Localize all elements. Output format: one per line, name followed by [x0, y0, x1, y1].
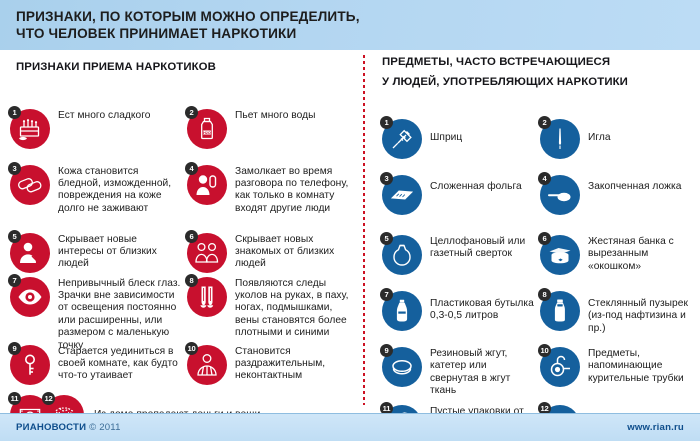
right-column-title-line2: У ЛЮДЕЙ, УПОТРЕБЛЯЮЩИХ НАРКОТИКИ: [382, 76, 700, 90]
item-label: Замолкает во время разговора по телефону…: [235, 165, 359, 216]
right-column-title-line1: ПРЕДМЕТЫ, ЧАСТО ВСТРЕЧАЮЩИЕСЯ: [382, 56, 700, 70]
item-number: 8: [538, 288, 551, 301]
item-number: 2: [185, 106, 198, 119]
icon-badge: 5: [382, 235, 422, 275]
page-header: ПРИЗНАКИ, ПО КОТОРЫМ МОЖНО ОПРЕДЕЛИТЬ, Ч…: [0, 0, 700, 50]
list-item[interactable]: 3 Сложенная фольга: [382, 175, 532, 215]
brand-name: РИАНОВОСТИ: [16, 422, 86, 433]
item-number: 11: [8, 392, 21, 405]
item-number: 6: [185, 230, 198, 243]
list-item[interactable]: 6 Скрывает новых знакомых от близких люд…: [187, 233, 359, 273]
icon-badge: 6: [187, 233, 227, 273]
item-label: Пьет много воды: [235, 109, 316, 122]
right-items-grid: 1 Шприц: [372, 95, 700, 415]
icon-badge: 10: [187, 345, 227, 385]
list-item[interactable]: 9 Старается уединиться в своей комнате, …: [10, 345, 182, 385]
left-items-grid: 1 Ест много сладкого: [0, 81, 360, 401]
item-label: Предметы, напоминающие курительные трубк…: [588, 347, 698, 385]
icon-badge: 3: [10, 165, 50, 205]
infographic-page: ПРИЗНАКИ, ПО КОТОРЫМ МОЖНО ОПРЕДЕЛИТЬ, Ч…: [0, 0, 700, 441]
item-label: Появляются следы уколов на руках, в паху…: [235, 277, 359, 340]
item-number: 7: [380, 288, 393, 301]
item-number: 7: [8, 274, 21, 287]
icon-badge: 1: [10, 109, 50, 149]
svg-text:H2O: H2O: [203, 130, 211, 134]
icon-badge: 9: [10, 345, 50, 385]
list-item[interactable]: 10 Становится раздражительным, неконтакт…: [187, 345, 359, 385]
list-item[interactable]: 10 Предметы, напоминающие курительные тр…: [540, 347, 698, 387]
list-item[interactable]: 5 Скрывает новые интересы от близких люд…: [10, 233, 182, 273]
item-number: 6: [538, 232, 551, 245]
item-label: Пластиковая бутылка 0,3-0,5 литров: [430, 291, 537, 323]
item-number: 3: [380, 172, 393, 185]
item-number: 9: [8, 342, 21, 355]
icon-badge: 2: [540, 119, 580, 159]
list-item[interactable]: 7 Непривычный блеск глаз. Зрачки вне зав…: [10, 277, 182, 352]
item-label: Стеклянный пузырек (из-под нафтизина и п…: [588, 291, 698, 335]
item-number: 10: [185, 342, 198, 355]
item-label: Игла: [588, 119, 611, 144]
item-label: Шприц: [430, 119, 462, 144]
item-label: Скрывает новых знакомых от близких людей: [235, 233, 359, 271]
list-item[interactable]: 9 Резиновый жгут, катетер или свернутая …: [382, 347, 537, 398]
item-label: Кожа становится бледной, изможденной, по…: [58, 165, 182, 216]
icon-badge: 1: [382, 119, 422, 159]
item-number: 5: [380, 232, 393, 245]
list-item[interactable]: 3 Кожа становится бледной, изможденной, …: [10, 165, 182, 216]
icon-badge: H2O 2: [187, 109, 227, 149]
item-number: 12: [42, 392, 55, 405]
icon-badge: 4: [540, 175, 580, 215]
column-divider: [363, 55, 365, 405]
item-label: Закопченная ложка: [588, 175, 681, 193]
item-number: 4: [538, 172, 551, 185]
item-number: 1: [380, 116, 393, 129]
icon-badge: 10: [540, 347, 580, 387]
list-item[interactable]: 2 Игла: [540, 119, 690, 159]
item-number: 1: [8, 106, 21, 119]
page-title-line2: ЧТО ЧЕЛОВЕК ПРИНИМАЕТ НАРКОТИКИ: [16, 26, 700, 43]
icon-badge: 6: [540, 235, 580, 275]
icon-badge: 4: [187, 165, 227, 205]
list-item[interactable]: 6 Жестяная банка с вырезанным «окошком»: [540, 235, 690, 275]
item-label: Жестяная банка с вырезанным «окошком»: [588, 235, 690, 273]
content-area: ПРИЗНАКИ ПРИЕМА НАРКОТИКОВ: [0, 50, 700, 413]
icon-badge: 7: [382, 291, 422, 331]
item-label: Становится раздражительным, неконтактным: [235, 345, 359, 383]
list-item[interactable]: 5 Целлофановый или газетный сверток: [382, 235, 532, 275]
right-column: ПРЕДМЕТЫ, ЧАСТО ВСТРЕЧАЮЩИЕСЯ У ЛЮДЕЙ, У…: [372, 50, 700, 415]
item-label: Непривычный блеск глаз. Зрачки вне завис…: [58, 277, 182, 352]
list-item[interactable]: 1 Шприц: [382, 119, 532, 159]
list-item[interactable]: 7 Пластиковая бутылка 0,3-0,5 литров: [382, 291, 537, 331]
item-number: 2: [538, 116, 551, 129]
left-column: ПРИЗНАКИ ПРИЕМА НАРКОТИКОВ: [0, 50, 360, 401]
list-item[interactable]: 1 Ест много сладкого: [10, 109, 180, 149]
list-item[interactable]: 4 Закопченная ложка: [540, 175, 690, 215]
item-label: Скрывает новые интересы от близких людей: [58, 233, 182, 271]
list-item[interactable]: H2O 2 Пьет много воды: [187, 109, 357, 149]
item-number: 10: [538, 344, 551, 357]
item-number: 5: [8, 230, 21, 243]
icon-badge: 3: [382, 175, 422, 215]
item-label: Сложенная фольга: [430, 175, 522, 193]
brand-logo[interactable]: РИАНОВОСТИ © 2011: [16, 422, 121, 433]
item-label: Резиновый жгут, катетер или свернутая в …: [430, 347, 537, 398]
page-title-line1: ПРИЗНАКИ, ПО КОТОРЫМ МОЖНО ОПРЕДЕЛИТЬ,: [16, 9, 700, 26]
page-footer: РИАНОВОСТИ © 2011 www.rian.ru: [0, 413, 700, 441]
item-label: Целлофановый или газетный сверток: [430, 235, 532, 261]
item-number: 8: [185, 274, 198, 287]
icon-badge: 5: [10, 233, 50, 273]
item-number: 9: [380, 344, 393, 357]
copyright-text: © 2011: [89, 422, 121, 433]
item-label: Старается уединиться в своей комнате, ка…: [58, 345, 182, 383]
list-item[interactable]: 4 Замолкает во время разговора по телефо…: [187, 165, 359, 216]
item-number: 3: [8, 162, 21, 175]
icon-badge: 8: [187, 277, 227, 317]
list-item[interactable]: 8 Появляются следы уколов на руках, в па…: [187, 277, 359, 340]
left-column-title: ПРИЗНАКИ ПРИЕМА НАРКОТИКОВ: [16, 61, 360, 75]
icon-badge: 8: [540, 291, 580, 331]
item-label: Ест много сладкого: [58, 109, 151, 122]
icon-badge: 7: [10, 277, 50, 317]
icon-badge: 9: [382, 347, 422, 387]
list-item[interactable]: 8 Стеклянный пузырек (из-под нафтизина и…: [540, 291, 698, 335]
website-link[interactable]: www.rian.ru: [627, 422, 684, 433]
item-number: 4: [185, 162, 198, 175]
